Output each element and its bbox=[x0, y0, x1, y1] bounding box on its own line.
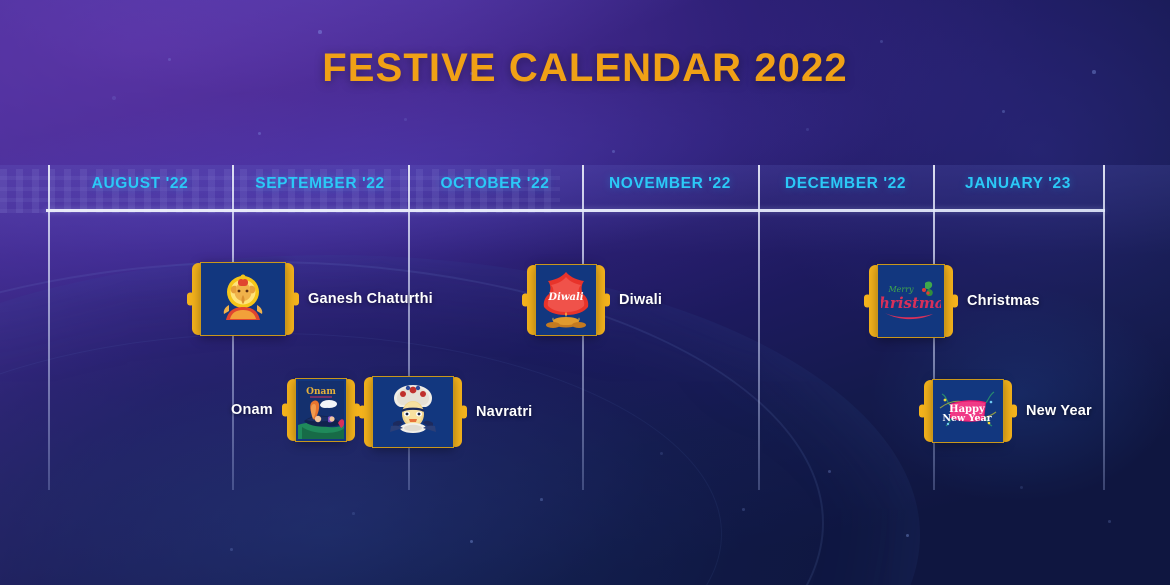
ganesha-icon bbox=[212, 270, 274, 328]
festival-icon-tile: Diwali bbox=[535, 264, 597, 336]
kathakali-face-icon bbox=[381, 383, 445, 441]
festival-icon-tile: Happy New Year bbox=[932, 379, 1004, 443]
festival-label: New Year bbox=[1026, 403, 1092, 419]
background-speck bbox=[1108, 520, 1111, 523]
festival-icon-frame: Happy New Year bbox=[924, 380, 1012, 442]
festival-icon-frame: Onam bbox=[287, 379, 355, 441]
merry-christmas-icon: Merry Christmas bbox=[881, 275, 941, 327]
festival-card-navratri[interactable]: Navratri bbox=[364, 377, 532, 447]
background-speck bbox=[230, 548, 233, 551]
festival-icon-tile: Onam bbox=[295, 378, 347, 442]
happy-new-year-icon: Happy New Year bbox=[936, 386, 1000, 436]
festival-icon-frame bbox=[192, 263, 294, 335]
background-speck bbox=[742, 508, 745, 511]
month-header-december[interactable]: DECEMBER '22 bbox=[758, 175, 933, 193]
background-speck bbox=[168, 58, 171, 61]
background-speck bbox=[112, 96, 116, 100]
festival-card-ganesh-chaturthi[interactable]: Ganesh Chaturthi bbox=[192, 263, 433, 335]
festival-icon-frame: Merry Christmas bbox=[869, 265, 953, 337]
background-speck bbox=[906, 534, 909, 537]
month-header-september[interactable]: SEPTEMBER '22 bbox=[232, 175, 408, 193]
background-speck bbox=[540, 498, 543, 501]
festival-icon-tile bbox=[200, 262, 286, 336]
timeline-divider-0 bbox=[48, 165, 50, 490]
festival-label: Diwali bbox=[619, 292, 662, 308]
background-speck bbox=[352, 512, 355, 515]
background-speck bbox=[318, 30, 322, 34]
month-header-november[interactable]: NOVEMBER '22 bbox=[582, 175, 758, 193]
festival-card-christmas[interactable]: Merry Christmas Christmas bbox=[869, 265, 1040, 337]
festival-icon-tile: Merry Christmas bbox=[877, 264, 945, 338]
month-header-january[interactable]: JANUARY '23 bbox=[933, 175, 1103, 193]
background-speck bbox=[1092, 70, 1096, 74]
festival-card-new-year[interactable]: Happy New Year New Year bbox=[924, 380, 1092, 442]
festive-calendar-poster: FESTIVE CALENDAR 2022 AUGUST '22SEPTEMBE… bbox=[0, 0, 1170, 585]
page-title: FESTIVE CALENDAR 2022 bbox=[0, 46, 1170, 91]
festival-label: Navratri bbox=[476, 404, 532, 420]
festival-icon-tile bbox=[372, 376, 454, 448]
svg-text:Merry: Merry bbox=[887, 285, 914, 294]
timeline-divider-6 bbox=[1103, 165, 1105, 490]
background-speck bbox=[660, 452, 663, 455]
month-header-august[interactable]: AUGUST '22 bbox=[48, 175, 232, 193]
festival-card-onam[interactable]: Onam Onam bbox=[231, 379, 355, 441]
festival-label: Ganesh Chaturthi bbox=[308, 291, 433, 307]
timeline-horizontal-rule bbox=[46, 209, 1105, 212]
svg-text:Onam: Onam bbox=[306, 387, 336, 397]
background-speck bbox=[828, 470, 831, 473]
stadium-background-image bbox=[0, 165, 1170, 585]
svg-text:Diwali: Diwali bbox=[547, 292, 583, 303]
month-header-october[interactable]: OCTOBER '22 bbox=[408, 175, 582, 193]
stadium-inner-arc bbox=[0, 333, 722, 585]
background-speck bbox=[880, 40, 883, 43]
svg-text:Christmas: Christmas bbox=[881, 294, 941, 312]
diwali-lantern-icon: Diwali bbox=[539, 269, 593, 331]
timeline-divider-4 bbox=[758, 165, 760, 490]
background-speck bbox=[258, 132, 261, 135]
svg-text:New Year: New Year bbox=[942, 413, 992, 424]
festival-card-diwali[interactable]: Diwali Diwali bbox=[527, 265, 662, 335]
background-speck bbox=[470, 540, 473, 543]
background-speck bbox=[806, 128, 809, 131]
festival-label: Onam bbox=[231, 402, 273, 418]
festival-label: Christmas bbox=[967, 293, 1040, 309]
background-speck bbox=[404, 118, 407, 121]
festival-icon-frame bbox=[364, 377, 462, 447]
background-speck bbox=[1020, 486, 1023, 489]
background-speck bbox=[612, 150, 615, 153]
background-speck bbox=[1002, 110, 1005, 113]
festival-icon-frame: Diwali bbox=[527, 265, 605, 335]
onam-boat-icon: Onam bbox=[298, 381, 344, 439]
